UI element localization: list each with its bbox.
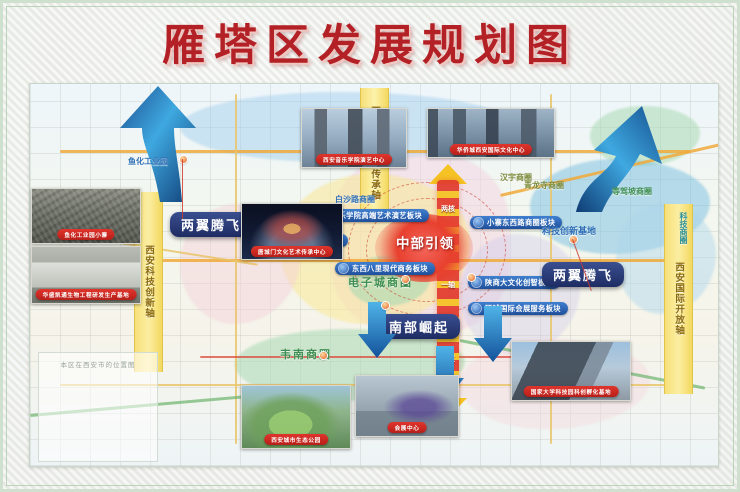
location-inset-map: 本区在西安市的位置图 — [38, 352, 158, 462]
road-vert-west — [235, 94, 237, 444]
photo-caption: 西安城市生态公园 — [264, 434, 328, 445]
photo-expo-center[interactable]: 会展中心 — [355, 375, 459, 437]
arrow-south-left-icon — [354, 302, 400, 358]
marker-core-b[interactable] — [468, 274, 475, 281]
marker-core-c[interactable] — [382, 302, 389, 309]
spine-label-middle: 一轴 — [441, 280, 455, 290]
photo-caption: 唐城门文化艺术传承中心 — [251, 246, 333, 257]
photo-biotech-production[interactable]: 华盛凯通生物工程研发生产基地 — [31, 246, 141, 304]
photo-yuhua-industrial-park[interactable]: 鱼化工业园小寨 — [31, 188, 141, 244]
place-tech-base: 科技创新基地 — [542, 224, 596, 237]
photo-caption: 国家大学科技园科创孵化基地 — [524, 386, 619, 397]
leader-yuhua — [182, 159, 183, 219]
photo-caption: 西安音乐学院演艺中心 — [316, 154, 392, 165]
place-keji-circle: 科技商圈 — [678, 212, 689, 244]
photo-music-arts-center[interactable]: 西安音乐学院演艺中心 — [301, 108, 407, 168]
spine-label-upper: 两核 — [441, 204, 455, 214]
photo-caption: 会展中心 — [388, 422, 427, 433]
core-label: 中部引领 — [382, 232, 468, 252]
pill-dot-icon — [474, 218, 483, 227]
page-title: 雁塔区发展规划图 — [3, 11, 737, 73]
pill-dot-icon — [339, 264, 348, 273]
photo-caption: 鱼化工业园小寨 — [57, 229, 114, 240]
poster-root: 雁塔区发展规划图 西安科技创新轴 西安古都文化传承轴 西安国际开放轴 — [0, 0, 740, 492]
place-qinglongsi: 青龙寺商圈 — [524, 180, 564, 191]
inset-caption: 本区在西安市的位置图 — [39, 359, 157, 369]
marker-core-a[interactable] — [402, 276, 409, 283]
photo-university-sci-park[interactable]: 国家大学科技园科创孵化基地 — [511, 341, 631, 401]
place-yuhua-park: 鱼化工业园 — [128, 156, 168, 167]
arrow-northwest-icon — [108, 84, 228, 204]
arrow-south-right-icon — [470, 306, 516, 362]
photo-caption: 华侨城西安国际文化中心 — [450, 144, 532, 155]
photo-ecological-park[interactable]: 西安城市生态公园 — [241, 385, 351, 449]
photo-caption: 华盛凯通生物工程研发生产基地 — [36, 289, 137, 300]
photo-datang-furong[interactable]: 唐城门文化艺术传承中心 — [241, 203, 343, 260]
marker-weinan[interactable] — [320, 352, 327, 359]
place-dengjiapo: 等驾坡商圈 — [612, 186, 652, 197]
photo-overseas-culture[interactable]: 华侨城西安国际文化中心 — [427, 108, 555, 158]
